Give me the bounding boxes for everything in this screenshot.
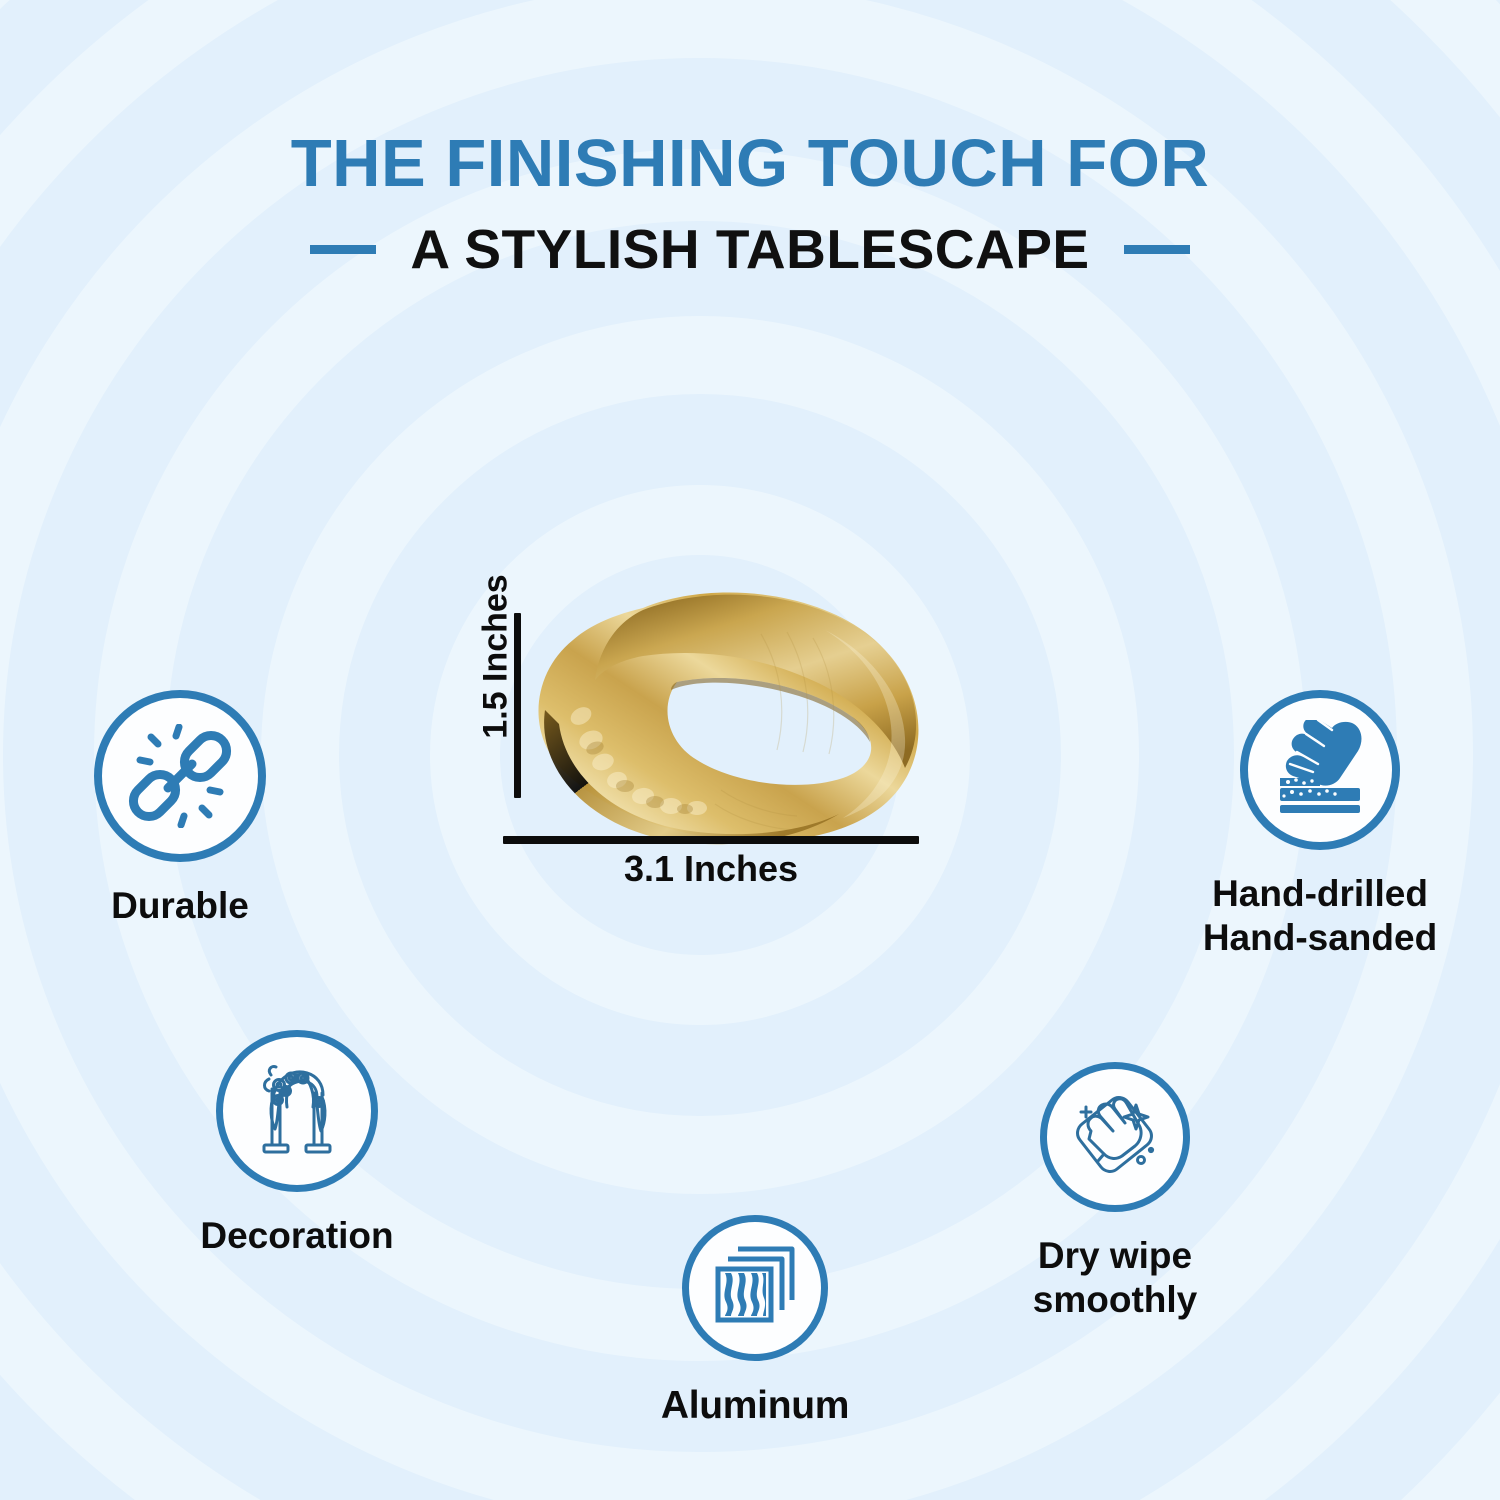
- horizontal-dimension-line: [503, 836, 919, 844]
- infographic-canvas: THE FINISHING TOUCH FOR A STYLISH TABLES…: [0, 0, 1500, 1500]
- right-dash-decoration: [1124, 245, 1190, 254]
- height-dimension-label: 1.5 Inches: [477, 562, 516, 752]
- wedding-arch-icon: [216, 1030, 378, 1192]
- feature-label-durable: Durable: [30, 884, 330, 928]
- width-dimension-label: 3.1 Inches: [503, 848, 919, 890]
- metal-sheets-icon: [682, 1215, 828, 1361]
- page-title: THE FINISHING TOUCH FOR: [0, 128, 1500, 199]
- hand-wiping-icon: [1040, 1062, 1190, 1212]
- feature-hand-finished: Hand-drilled Hand-sanded: [1140, 690, 1500, 959]
- product-image-gold-napkin-ring: [525, 590, 930, 845]
- heading-block: THE FINISHING TOUCH FOR A STYLISH TABLES…: [0, 128, 1500, 281]
- feature-dry-wipe: Dry wipe smoothly: [970, 1062, 1260, 1321]
- chain-link-icon: [94, 690, 266, 862]
- feature-label-decoration: Decoration: [147, 1214, 447, 1258]
- product-dimension-block: 1.5 Inches: [440, 585, 940, 895]
- feature-label-dry-wipe: Dry wipe smoothly: [970, 1234, 1260, 1321]
- feature-decoration: Decoration: [147, 1030, 447, 1258]
- feature-durable: Durable: [30, 690, 330, 928]
- left-dash-decoration: [310, 245, 376, 254]
- feature-label-hand-finished: Hand-drilled Hand-sanded: [1140, 872, 1500, 959]
- page-subtitle: A STYLISH TABLESCAPE: [410, 217, 1089, 281]
- subtitle-row: A STYLISH TABLESCAPE: [0, 217, 1500, 281]
- feature-label-aluminum: Aluminum: [605, 1383, 905, 1429]
- hand-sanding-icon: [1240, 690, 1400, 850]
- feature-aluminum: Aluminum: [605, 1215, 905, 1429]
